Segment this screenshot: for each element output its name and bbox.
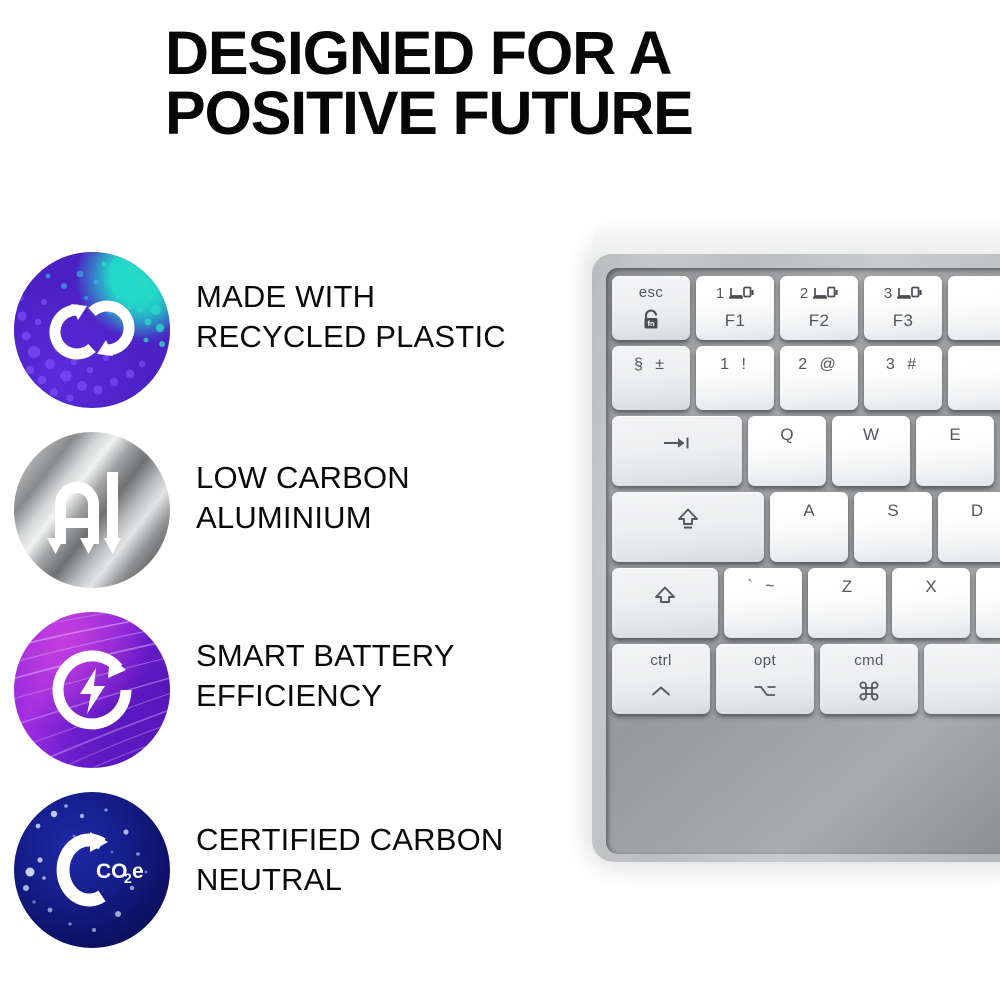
key-grid: esc fn 1	[606, 268, 1000, 854]
q-key-label: Q	[780, 426, 793, 443]
w-key-label: W	[863, 426, 879, 443]
shift-arrow-icon	[612, 568, 718, 638]
feature-label: MADE WITH RECYCLED PLASTIC	[196, 277, 506, 356]
two-key-label: 2 @	[798, 357, 840, 373]
wireless-keyboard: esc fn 1	[583, 222, 1000, 862]
f3-key[interactable]: 3 F3	[864, 276, 942, 340]
c-key[interactable]	[976, 568, 1000, 638]
ctrl-key[interactable]: ctrl	[612, 644, 710, 714]
esc-key-label: esc	[639, 285, 664, 300]
feature-label: LOW CARBON ALUMINIUM	[196, 458, 410, 537]
keyboard-body: esc fn 1	[592, 254, 1000, 862]
f3-device-number: 3	[884, 285, 892, 302]
f2-key-label: F2	[809, 312, 829, 329]
headline-line-2: POSITIVE FUTURE	[165, 84, 865, 144]
recycle-icon	[14, 252, 170, 408]
opt-key-label: opt	[754, 653, 776, 668]
two-key[interactable]: 2 @	[780, 346, 858, 410]
feature-item-certified-carbon-neutral: CO 2 e CERTIFIED CARBON NEUTRAL	[0, 786, 600, 966]
svg-text:fn: fn	[648, 319, 655, 328]
feature-item-smart-battery-efficiency: SMART BATTERY EFFICIENCY	[0, 606, 600, 786]
headline-line-1: DESIGNED FOR A	[165, 19, 671, 87]
w-key[interactable]: W	[832, 416, 910, 486]
z-key[interactable]: Z	[808, 568, 886, 638]
f1-key[interactable]: 1 F1	[696, 276, 774, 340]
cmd-key-label: cmd	[854, 653, 884, 668]
q-key[interactable]: Q	[748, 416, 826, 486]
s-key-label: S	[887, 502, 898, 519]
feature-item-low-carbon-aluminium: LOW CARBON ALUMINIUM	[0, 426, 600, 606]
a-key[interactable]: A	[770, 492, 848, 562]
cmd-key[interactable]: cmd	[820, 644, 918, 714]
f1-device-number: 1	[716, 285, 724, 302]
four-key[interactable]	[948, 346, 1000, 410]
one-key[interactable]: 1 !	[696, 346, 774, 410]
ctrl-key-label: ctrl	[650, 653, 672, 668]
product-feature-poster: DESIGNED FOR A POSITIVE FUTURE	[0, 0, 1000, 1000]
tab-arrow-icon	[612, 416, 742, 486]
section-key[interactable]: § ±	[612, 346, 690, 410]
e-key[interactable]: E	[916, 416, 994, 486]
battery-bolt-cycle-icon	[14, 612, 170, 768]
f2-key[interactable]: 2 F2	[780, 276, 858, 340]
shift-key[interactable]	[612, 568, 718, 638]
feature-list: MADE WITH RECYCLED PLASTIC	[0, 246, 600, 966]
feature-label: SMART BATTERY EFFICIENCY	[196, 636, 455, 715]
svg-text:2: 2	[124, 870, 132, 886]
backtick-key[interactable]: ` ~	[724, 568, 802, 638]
three-key[interactable]: 3 #	[864, 346, 942, 410]
d-key-label: D	[971, 502, 983, 519]
space-key[interactable]	[924, 644, 1000, 714]
x-key[interactable]: X	[892, 568, 970, 638]
tab-key[interactable]	[612, 416, 742, 486]
three-key-label: 3 #	[886, 357, 920, 373]
e-key-label: E	[949, 426, 960, 443]
fn-lock-icon: fn	[612, 300, 690, 340]
feature-label: CERTIFIED CARBON NEUTRAL	[196, 820, 504, 899]
carbon-neutral-co2e-icon: CO 2 e	[14, 792, 170, 948]
x-key-label: X	[925, 578, 936, 595]
a-key-label: A	[803, 502, 814, 519]
s-key[interactable]: S	[854, 492, 932, 562]
d-key[interactable]: D	[938, 492, 1000, 562]
device-switch-icon	[812, 286, 838, 301]
svg-text:CO: CO	[96, 860, 128, 883]
f2-device-number: 2	[800, 285, 808, 302]
z-key-label: Z	[842, 578, 852, 595]
feature-item-recycled-plastic: MADE WITH RECYCLED PLASTIC	[0, 246, 600, 426]
page-title: DESIGNED FOR A POSITIVE FUTURE	[165, 24, 865, 144]
device-switch-icon	[728, 286, 754, 301]
opt-key[interactable]: opt	[716, 644, 814, 714]
backtick-key-label: ` ~	[747, 579, 778, 595]
section-key-label: § ±	[634, 357, 668, 373]
option-icon	[716, 668, 814, 714]
aluminium-al-arrows-icon	[14, 432, 170, 588]
f4-key[interactable]	[948, 276, 1000, 340]
one-key-label: 1 !	[720, 357, 750, 373]
control-caret-icon	[612, 668, 710, 714]
caps-lock-icon	[612, 492, 764, 562]
svg-text:e: e	[132, 860, 144, 883]
keyboard-key-well: esc fn 1	[606, 268, 1000, 854]
f1-key-label: F1	[725, 312, 745, 329]
device-switch-icon	[896, 286, 922, 301]
command-icon	[820, 668, 918, 714]
esc-key[interactable]: esc fn	[612, 276, 690, 340]
f3-key-label: F3	[893, 312, 913, 329]
caps-lock-key[interactable]	[612, 492, 764, 562]
